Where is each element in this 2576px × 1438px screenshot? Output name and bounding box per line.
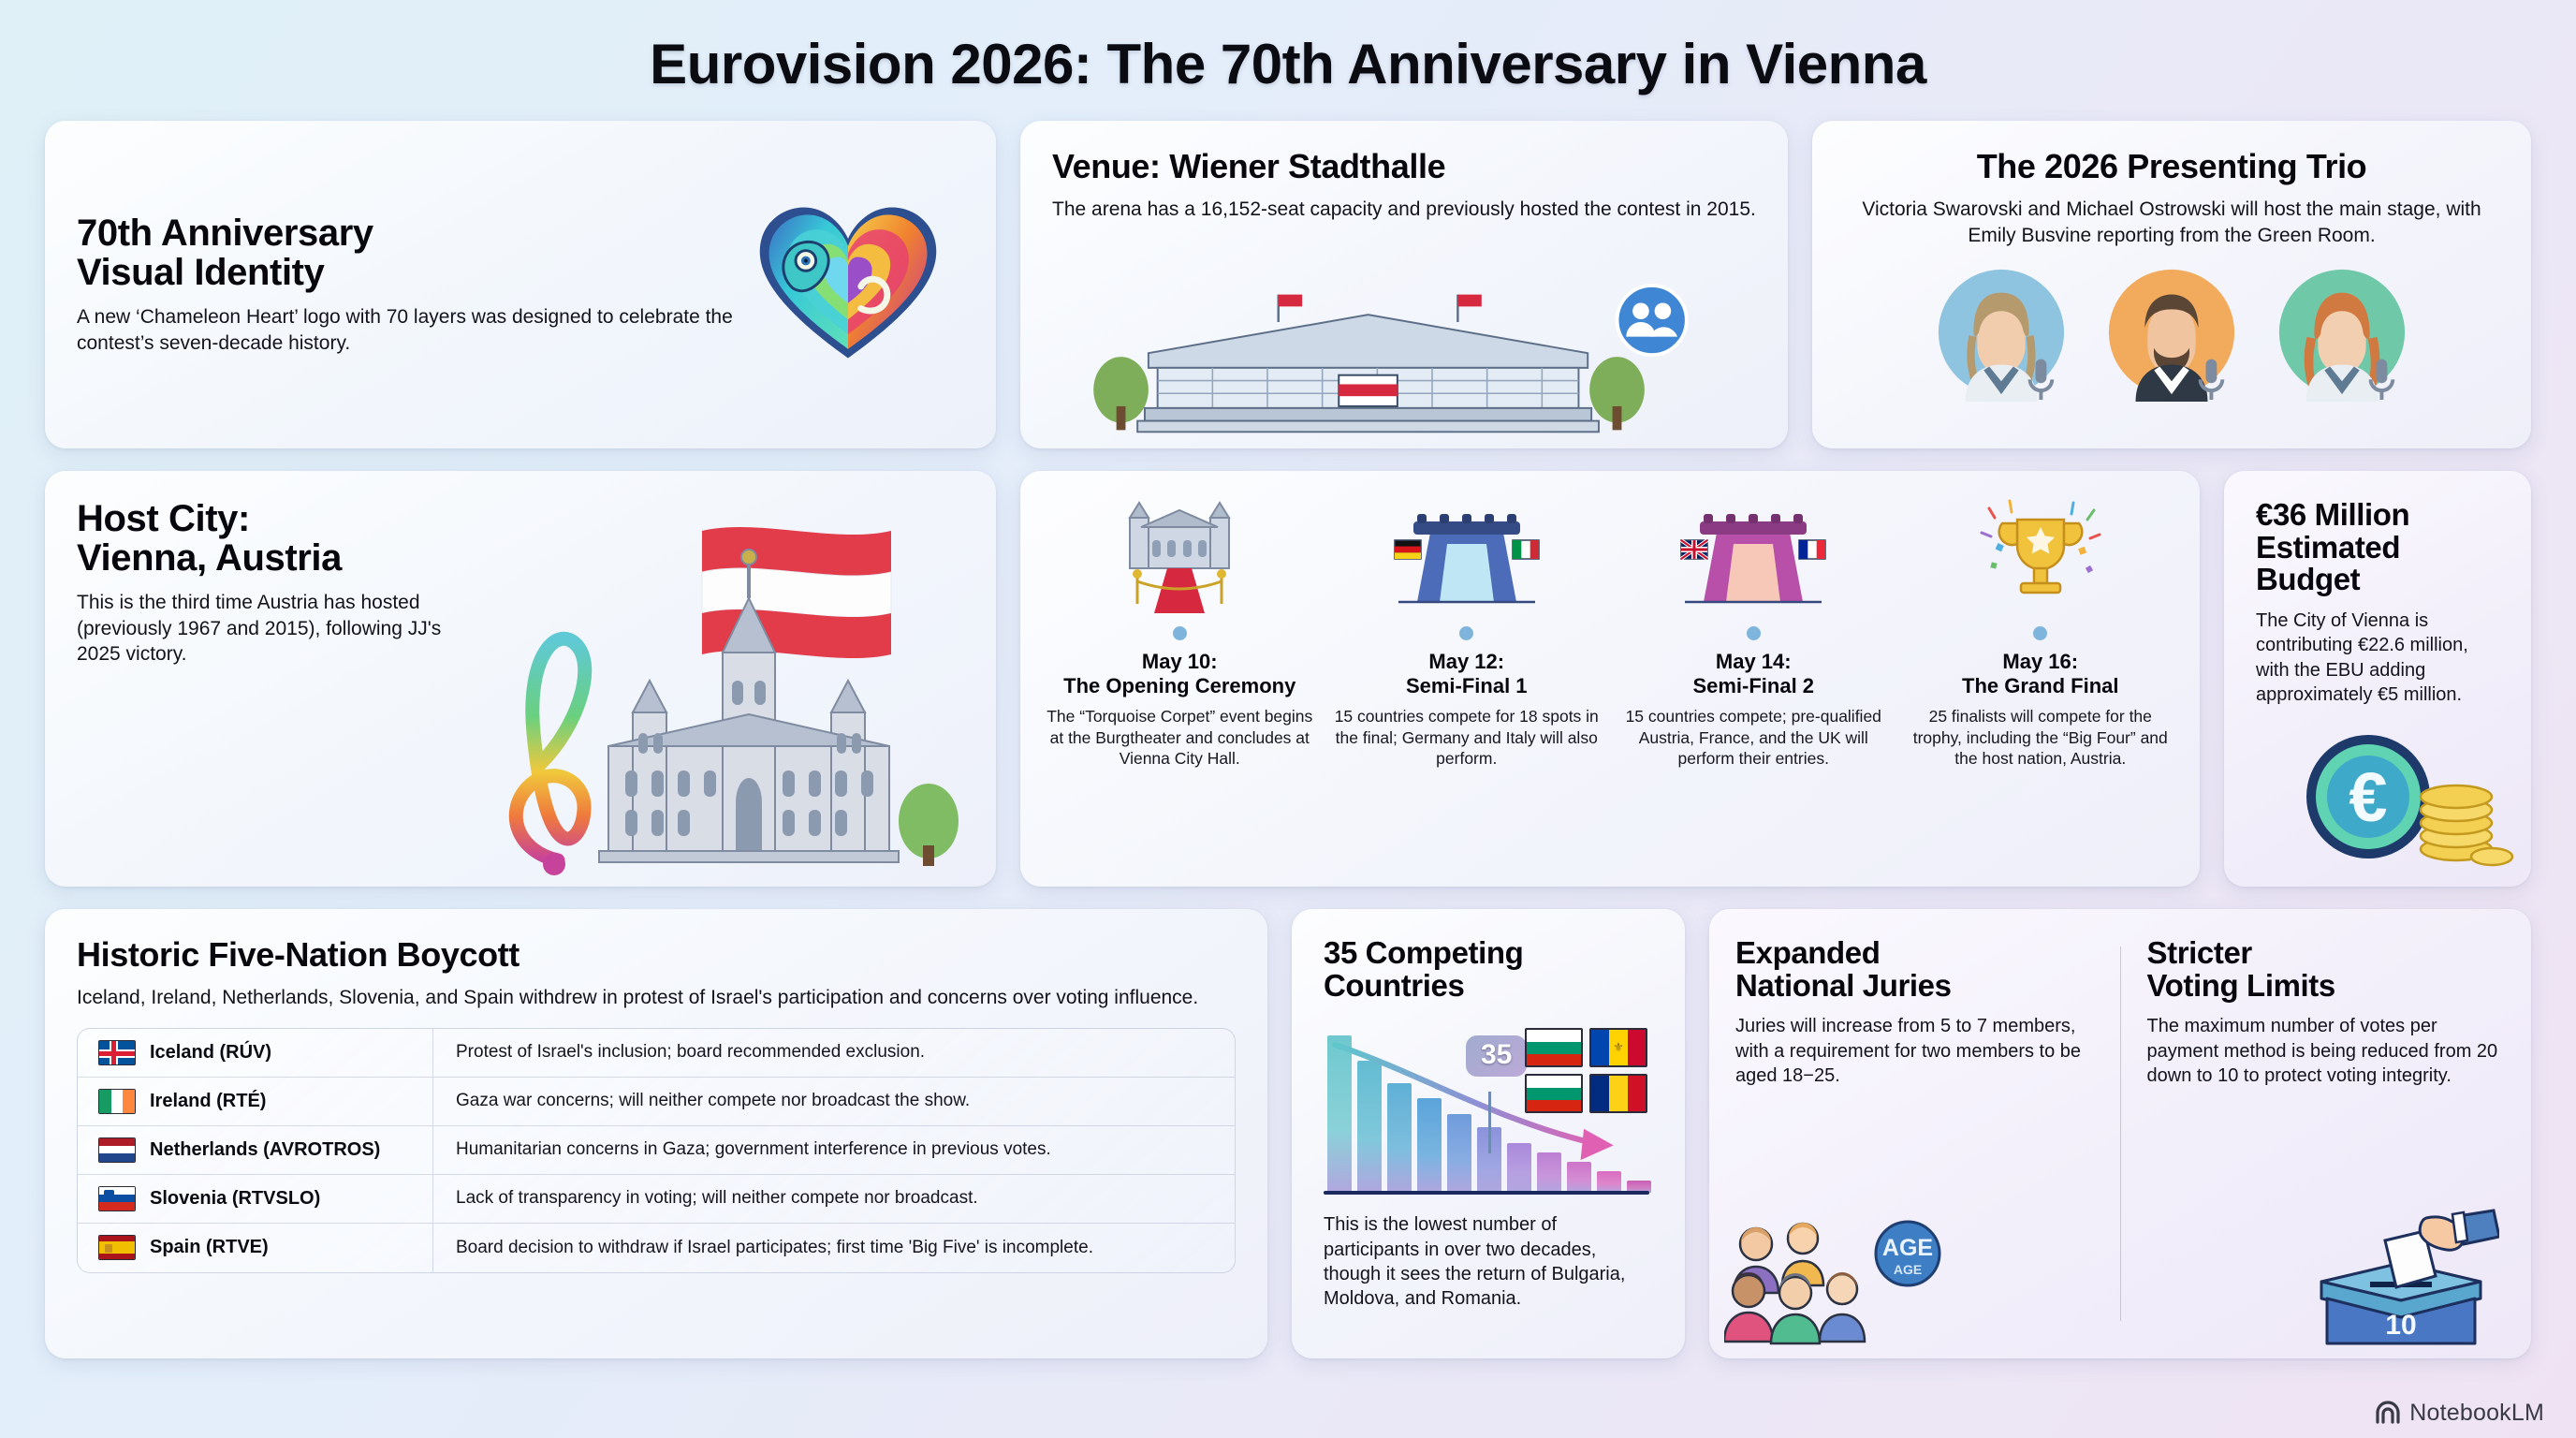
juries-heading: Expanded National Juries [1735, 937, 2094, 1002]
euro-coins-icon: € [2291, 720, 2516, 873]
boycott-table: Iceland (RÚV) Protest of Israel's inclus… [77, 1028, 1236, 1273]
boycott-country-cell-4: Spain (RTVE) [78, 1224, 433, 1272]
identity-heading-line2: Visual Identity [77, 252, 324, 293]
timeline-desc-3: 25 finalists will compete for the trophy… [1900, 706, 2182, 770]
timeline-name-2: Semi-Final 2 [1692, 674, 1814, 697]
jury-people-icon: AGE AGE [1724, 1211, 1958, 1351]
avatar-presenter-3 [2273, 263, 2411, 402]
budget-heading: €36 Million Estimated Budget [2256, 499, 2499, 596]
identity-text-block: 70th Anniversary Visual Identity A new ‘… [77, 213, 738, 356]
age-badge: AGE AGE [1876, 1222, 1939, 1285]
timeline-date-text-1: May 12: [1428, 650, 1504, 673]
hostcity-heading-line1: Host City: [77, 498, 250, 539]
timeline-date-text-0: May 10: [1142, 650, 1218, 673]
card-venue: Venue: Wiener Stadthalle The arena has a… [1020, 121, 1788, 448]
card-presenting-trio: The 2026 Presenting Trio Victoria Swarov… [1812, 121, 2531, 448]
arena-building-icon [1020, 280, 1716, 445]
boycott-country-name-0: Iceland (RÚV) [150, 1042, 271, 1064]
red-carpet-palace-icon [1102, 495, 1257, 613]
countries-heading-line1: 35 Competing [1324, 935, 1523, 970]
age-badge-sub: AGE [1894, 1262, 1922, 1277]
chart-callout-stem [1488, 1092, 1491, 1153]
timeline-date-text-3: May 16: [2002, 650, 2078, 673]
identity-body: A new ‘Chameleon Heart’ logo with 70 lay… [77, 304, 738, 356]
timeline-name-1: Semi-Final 1 [1406, 674, 1528, 697]
watermark: NotebookLM [2373, 1399, 2544, 1427]
trophy-confetti-icon [1963, 495, 2118, 613]
timeline-name-3: The Grand Final [1962, 674, 2118, 697]
boycott-reason-3: Lack of transparency in voting; will nei… [433, 1188, 1235, 1209]
germany-flag-icon [1395, 540, 1421, 559]
timeline-date-text-2: May 14: [1716, 650, 1792, 673]
romania-flag-icon [1589, 1074, 1647, 1113]
chart-callout-label: 35 [1466, 1035, 1527, 1077]
timeline-desc-2: 15 countries compete; pre-qualified Aust… [1613, 706, 1895, 770]
table-row[interactable]: Ireland (RTÉ) Gaza war concerns; will ne… [78, 1078, 1235, 1126]
timeline-item-0: May 10: The Opening Ceremony The “Torquo… [1039, 495, 1321, 864]
netherlands-flag-icon [98, 1137, 136, 1163]
boycott-body: Iceland, Ireland, Netherlands, Slovenia,… [77, 985, 1236, 1011]
boycott-heading: Historic Five-Nation Boycott [77, 937, 1236, 973]
card-rules: Expanded National Juries Juries will inc… [1709, 909, 2531, 1358]
row-bottom: Historic Five-Nation Boycott Iceland, Ir… [0, 909, 2576, 1358]
ireland-flag-icon [98, 1089, 136, 1114]
boycott-country-name-1: Ireland (RTÉ) [150, 1091, 266, 1112]
timeline-name-0: The Opening Ceremony [1063, 674, 1295, 697]
boycott-reason-2: Humanitarian concerns in Gaza; governmen… [433, 1139, 1235, 1160]
timeline-date-0: May 10: The Opening Ceremony [1063, 650, 1295, 698]
boycott-country-cell-1: Ireland (RTÉ) [78, 1078, 433, 1125]
timeline-dot-1 [1459, 626, 1473, 640]
table-row[interactable]: Netherlands (AVROTROS) Humanitarian conc… [78, 1126, 1235, 1175]
timeline-date-3: May 16: The Grand Final [1962, 650, 2118, 698]
hostcity-text-block: Host City: Vienna, Austria This is the t… [77, 499, 479, 668]
boycott-reason-1: Gaza war concerns; will neither compete … [433, 1091, 1235, 1111]
venue-heading: Venue: Wiener Stadthalle [1052, 149, 1756, 184]
boycott-country-cell-0: Iceland (RÚV) [78, 1029, 433, 1077]
chart-baseline-axis [1324, 1191, 1649, 1195]
avatar-presenter-1 [1932, 263, 2071, 402]
row-top: 70th Anniversary Visual Identity A new ‘… [0, 121, 2576, 448]
vienna-cityhall-flag-icon [468, 512, 992, 887]
timeline-desc-1: 15 countries compete for 18 spots in the… [1326, 706, 1608, 770]
moldova-flag-icon: ⚜ [1589, 1028, 1647, 1067]
svg-text:€: € [2349, 758, 2387, 836]
trio-heading: The 2026 Presenting Trio [1844, 149, 2499, 184]
france-flag-icon [1799, 540, 1825, 559]
table-row[interactable]: Slovenia (RTVSLO) Lack of transparency i… [78, 1175, 1235, 1224]
hostcity-heading-line2: Vienna, Austria [77, 537, 342, 579]
budget-body: The City of Vienna is contributing €22.6… [2256, 609, 2499, 708]
italy-flag-icon [1513, 540, 1539, 559]
watermark-label: NotebookLM [2409, 1400, 2544, 1427]
table-row[interactable]: Iceland (RÚV) Protest of Israel's inclus… [78, 1029, 1235, 1078]
voting-heading-line1: Stricter [2147, 935, 2252, 970]
boycott-country-name-2: Netherlands (AVROTROS) [150, 1139, 380, 1161]
bulgaria-flag-icon [1525, 1074, 1583, 1113]
juries-body: Juries will increase from 5 to 7 members… [1735, 1014, 2094, 1088]
countries-body: This is the lowest number of participant… [1324, 1212, 1653, 1312]
boycott-country-cell-2: Netherlands (AVROTROS) [78, 1126, 433, 1174]
boycott-country-name-3: Slovenia (RTVSLO) [150, 1188, 320, 1210]
boycott-reason-4: Board decision to withdraw if Israel par… [433, 1238, 1235, 1258]
stage-germany-italy-icon [1389, 495, 1544, 613]
identity-heading: 70th Anniversary Visual Identity [77, 213, 738, 292]
timeline-item-3: May 16: The Grand Final 25 finalists wil… [1900, 495, 2182, 864]
participation-bar-chart: 35 ⚜ [1324, 1022, 1653, 1200]
timeline-dot-3 [2033, 626, 2047, 640]
card-competing-countries: 35 Competing Countries 35 ⚜ [1292, 909, 1685, 1358]
juries-heading-line1: Expanded [1735, 935, 1881, 970]
table-row[interactable]: Spain (RTVE) Board decision to withdraw … [78, 1224, 1235, 1272]
returning-countries-flags: ⚜ [1525, 1028, 1647, 1113]
notebooklm-logo-icon [2373, 1399, 2401, 1427]
card-boycott: Historic Five-Nation Boycott Iceland, Ir… [45, 909, 1267, 1358]
iceland-flag-icon [98, 1040, 136, 1065]
rule-voting: Stricter Voting Limits The maximum numbe… [2121, 909, 2532, 1358]
boycott-country-name-4: Spain (RTVE) [150, 1237, 269, 1258]
budget-heading-line1: €36 Million [2256, 497, 2409, 532]
boycott-country-cell-3: Slovenia (RTVSLO) [78, 1175, 433, 1223]
voting-heading-line2: Voting Limits [2147, 968, 2335, 1003]
timeline-item-1: May 12: Semi-Final 1 15 countries compet… [1326, 495, 1608, 864]
spain-flag-icon [98, 1235, 136, 1260]
page-title: Eurovision 2026: The 70th Anniversary in… [0, 0, 2576, 96]
age-badge-label: AGE [1882, 1235, 1933, 1261]
slovenia-flag-icon [98, 1186, 136, 1211]
timeline-desc-0: The “Torquoise Corpet” event begins at t… [1039, 706, 1321, 770]
timeline-dot-0 [1173, 626, 1187, 640]
rule-juries: Expanded National Juries Juries will inc… [1709, 909, 2120, 1358]
timeline-item-2: May 14: Semi-Final 2 15 countries compet… [1613, 495, 1895, 864]
card-budget: €36 Million Estimated Budget The City of… [2224, 471, 2531, 887]
hostcity-body: This is the third time Austria has hoste… [77, 590, 479, 668]
voting-body: The maximum number of votes per payment … [2147, 1014, 2506, 1088]
venue-body: The arena has a 16,152-seat capacity and… [1052, 197, 1756, 223]
ballot-count-label: 10 [2385, 1310, 2416, 1341]
hostcity-heading: Host City: Vienna, Austria [77, 499, 479, 578]
juries-heading-line2: National Juries [1735, 968, 1952, 1003]
stage-uk-france-icon [1676, 495, 1831, 613]
countries-heading: 35 Competing Countries [1324, 937, 1653, 1002]
card-host-city: Host City: Vienna, Austria This is the t… [45, 471, 996, 887]
trio-avatars [1844, 263, 2499, 402]
voting-heading: Stricter Voting Limits [2147, 937, 2506, 1002]
boycott-reason-0: Protest of Israel's inclusion; board rec… [433, 1042, 1235, 1063]
timeline-date-2: May 14: Semi-Final 2 [1692, 650, 1814, 698]
ballot-box-icon: 10 [2303, 1209, 2499, 1349]
countries-heading-line2: Countries [1324, 968, 1464, 1003]
row-middle: Host City: Vienna, Austria This is the t… [0, 471, 2576, 887]
card-timeline: May 10: The Opening Ceremony The “Torquo… [1020, 471, 2200, 887]
timeline-date-1: May 12: Semi-Final 1 [1406, 650, 1528, 698]
avatar-presenter-2 [2102, 263, 2241, 402]
timeline-dot-2 [1747, 626, 1761, 640]
identity-heading-line1: 70th Anniversary [77, 213, 373, 254]
budget-heading-line2: Estimated Budget [2256, 530, 2400, 597]
card-visual-identity: 70th Anniversary Visual Identity A new ‘… [45, 121, 996, 448]
chameleon-heart-logo-icon [738, 183, 959, 386]
uk-flag-icon [1681, 540, 1707, 559]
trio-body: Victoria Swarovski and Michael Ostrowski… [1844, 197, 2499, 248]
bulgaria-flag-icon [1525, 1028, 1583, 1067]
